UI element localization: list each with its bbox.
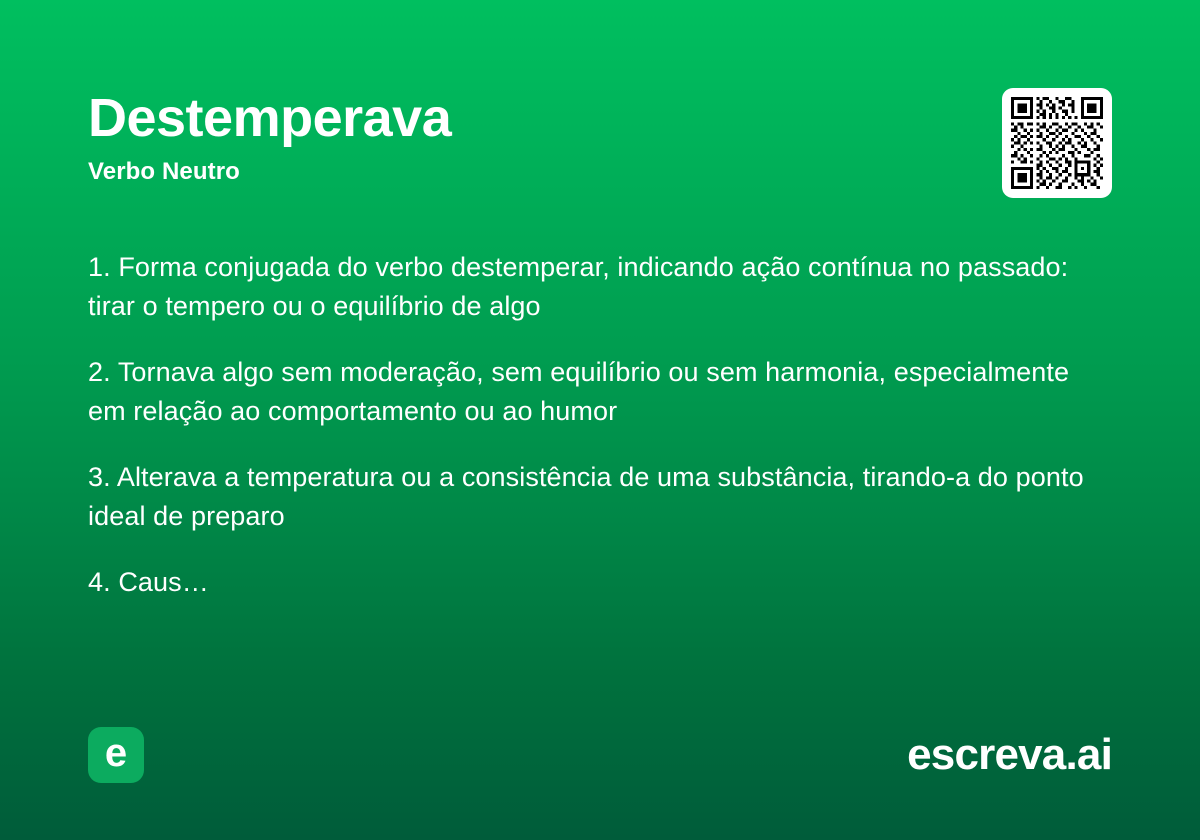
brand-logo-icon: e — [88, 727, 144, 783]
definition-item: 2. Tornava algo sem moderação, sem equil… — [88, 353, 1098, 431]
definition-item: 4. Caus… — [88, 563, 1098, 602]
brand-logo-letter: e — [105, 733, 127, 773]
definition-card: Destemperava Verbo Neutro — [0, 0, 1200, 840]
word-class-label: Verbo Neutro — [88, 158, 451, 186]
brand-wordmark: escreva.ai — [907, 733, 1112, 777]
page-title: Destemperava — [88, 90, 451, 146]
card-footer: e escreva.ai — [88, 726, 1112, 784]
qr-code[interactable] — [1002, 88, 1112, 198]
definitions-list: 1. Forma conjugada do verbo destemperar,… — [88, 248, 1098, 602]
definition-item: 1. Forma conjugada do verbo destemperar,… — [88, 248, 1098, 326]
definition-item: 3. Alterava a temperatura ou a consistên… — [88, 458, 1098, 536]
card-header: Destemperava Verbo Neutro — [88, 88, 1112, 198]
headings-group: Destemperava Verbo Neutro — [88, 88, 451, 186]
